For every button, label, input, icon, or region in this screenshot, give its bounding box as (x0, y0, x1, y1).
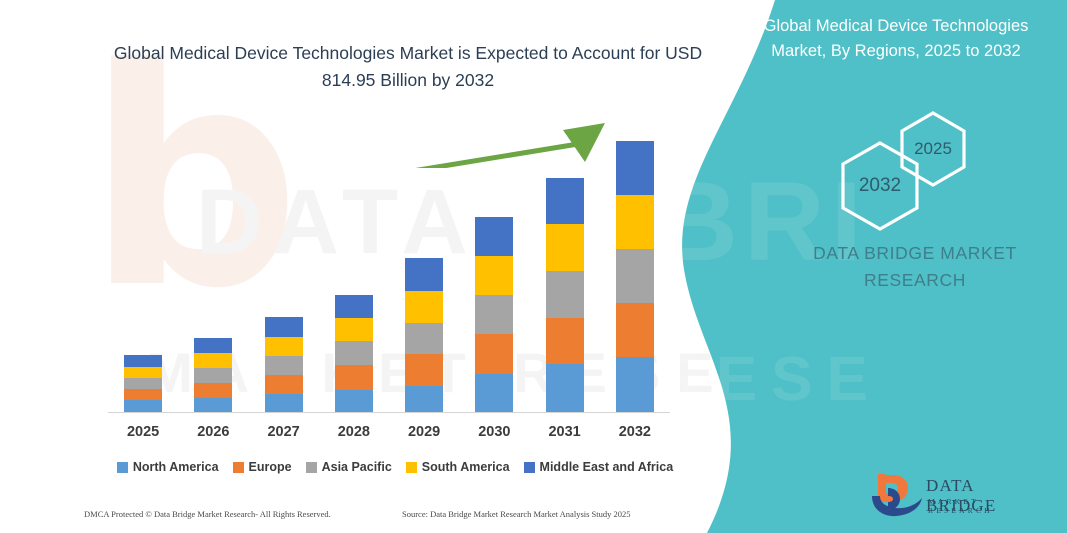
chart-x-label: 2029 (389, 424, 459, 440)
legend-label: South America (422, 460, 510, 474)
chart-bar-segment (616, 249, 654, 303)
chart-x-label: 2031 (530, 424, 600, 440)
legend-item[interactable]: Asia Pacific (306, 460, 392, 474)
headline-title: Global Medical Device Technologies Marke… (108, 40, 708, 94)
data-bridge-logo: DATA BRIDGE MARKET RESEARCH (870, 472, 1045, 518)
logo-tagline: MARKET RESEARCH (928, 497, 1045, 515)
chart-x-label: 2028 (319, 424, 389, 440)
chart-x-axis-line (108, 412, 670, 413)
chart-bar-segment (405, 291, 443, 323)
legend-label: Europe (249, 460, 292, 474)
chart-x-label: 2032 (600, 424, 670, 440)
chart-legend: North AmericaEuropeAsia PacificSouth Ame… (100, 460, 690, 474)
chart-bar-segment (616, 141, 654, 195)
chart-x-axis-labels: 20252026202720282029203020312032 (108, 424, 670, 446)
chart-bar-segment (546, 224, 584, 271)
legend-label: Middle East and Africa (540, 460, 674, 474)
logo-mark-icon (870, 472, 930, 518)
footer-source: Source: Data Bridge Market Research Mark… (402, 509, 631, 519)
watermark-data-text: DATA (196, 170, 478, 275)
legend-swatch-icon (233, 462, 244, 473)
chart-bar-segment (335, 318, 373, 341)
footer-copyright: DMCA Protected © Data Bridge Market Rese… (84, 509, 331, 519)
legend-item[interactable]: Middle East and Africa (524, 460, 674, 474)
chart-bar-segment (335, 295, 373, 318)
chart-bar-segment (475, 295, 513, 334)
chart-bar-segment (475, 217, 513, 256)
hexagon-2025-label: 2025 (898, 110, 968, 188)
legend-item[interactable]: North America (117, 460, 219, 474)
svg-text:RESE: RESE (667, 345, 882, 414)
chart-x-label: 2027 (249, 424, 319, 440)
panel-brand-name: DATA BRIDGE MARKET RESEARCH (780, 240, 1050, 294)
chart-x-label: 2030 (459, 424, 529, 440)
panel-title: Global Medical Device Technologies Marke… (740, 14, 1052, 64)
legend-swatch-icon (306, 462, 317, 473)
legend-item[interactable]: South America (406, 460, 510, 474)
chart-bar-segment (546, 271, 584, 318)
chart-bar-segment (475, 256, 513, 295)
legend-label: Asia Pacific (322, 460, 392, 474)
chart-bar-segment (616, 195, 654, 249)
chart-x-label: 2025 (108, 424, 178, 440)
infographic-root: b DATA MARKET RESEARCH Global Medical De… (0, 0, 1067, 533)
legend-item[interactable]: Europe (233, 460, 292, 474)
legend-swatch-icon (117, 462, 128, 473)
chart-bar-segment (546, 178, 584, 224)
growth-trend-arrow (108, 118, 613, 168)
legend-swatch-icon (406, 462, 417, 473)
legend-label: North America (133, 460, 219, 474)
chart-x-label: 2026 (178, 424, 248, 440)
hexagon-badge-2025: 2025 (898, 110, 968, 188)
legend-swatch-icon (524, 462, 535, 473)
